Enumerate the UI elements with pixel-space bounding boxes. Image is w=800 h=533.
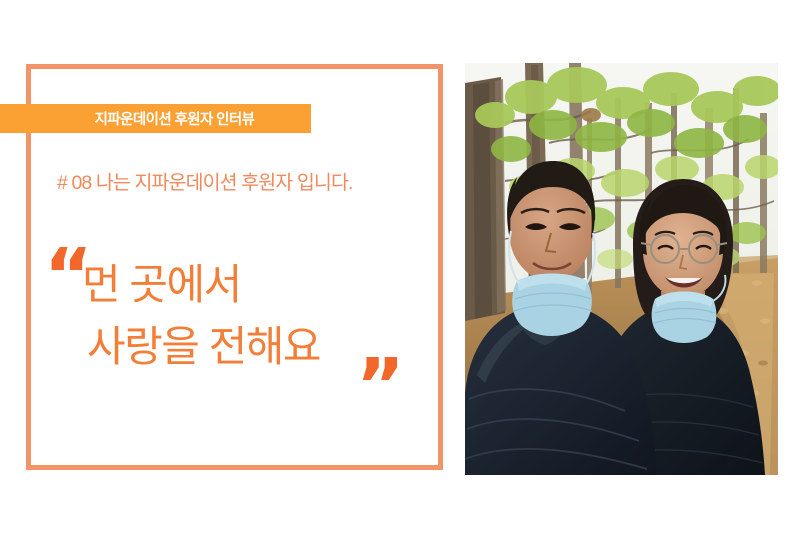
quote-line-2: 사랑을 전해요: [87, 326, 320, 368]
slide-canvas: 지파운데이션 후원자 인터뷰 # 08 나는 지파운데이션 후원자 입니다. “…: [0, 0, 800, 533]
category-banner: 지파운데이션 후원자 인터뷰: [0, 104, 311, 133]
quote-close-mark-icon: ”: [356, 349, 405, 423]
photo-illustration: [465, 63, 778, 475]
series-subtitle: # 08 나는 지파운데이션 후원자 입니다.: [57, 166, 437, 195]
category-banner-label: 지파운데이션 후원자 인터뷰: [47, 108, 265, 129]
interview-photo: [465, 63, 778, 475]
quote-line-1: 먼 곳에서: [82, 264, 241, 306]
pull-quote: “ 먼 곳에서 사랑을 전해요 ”: [44, 245, 424, 415]
